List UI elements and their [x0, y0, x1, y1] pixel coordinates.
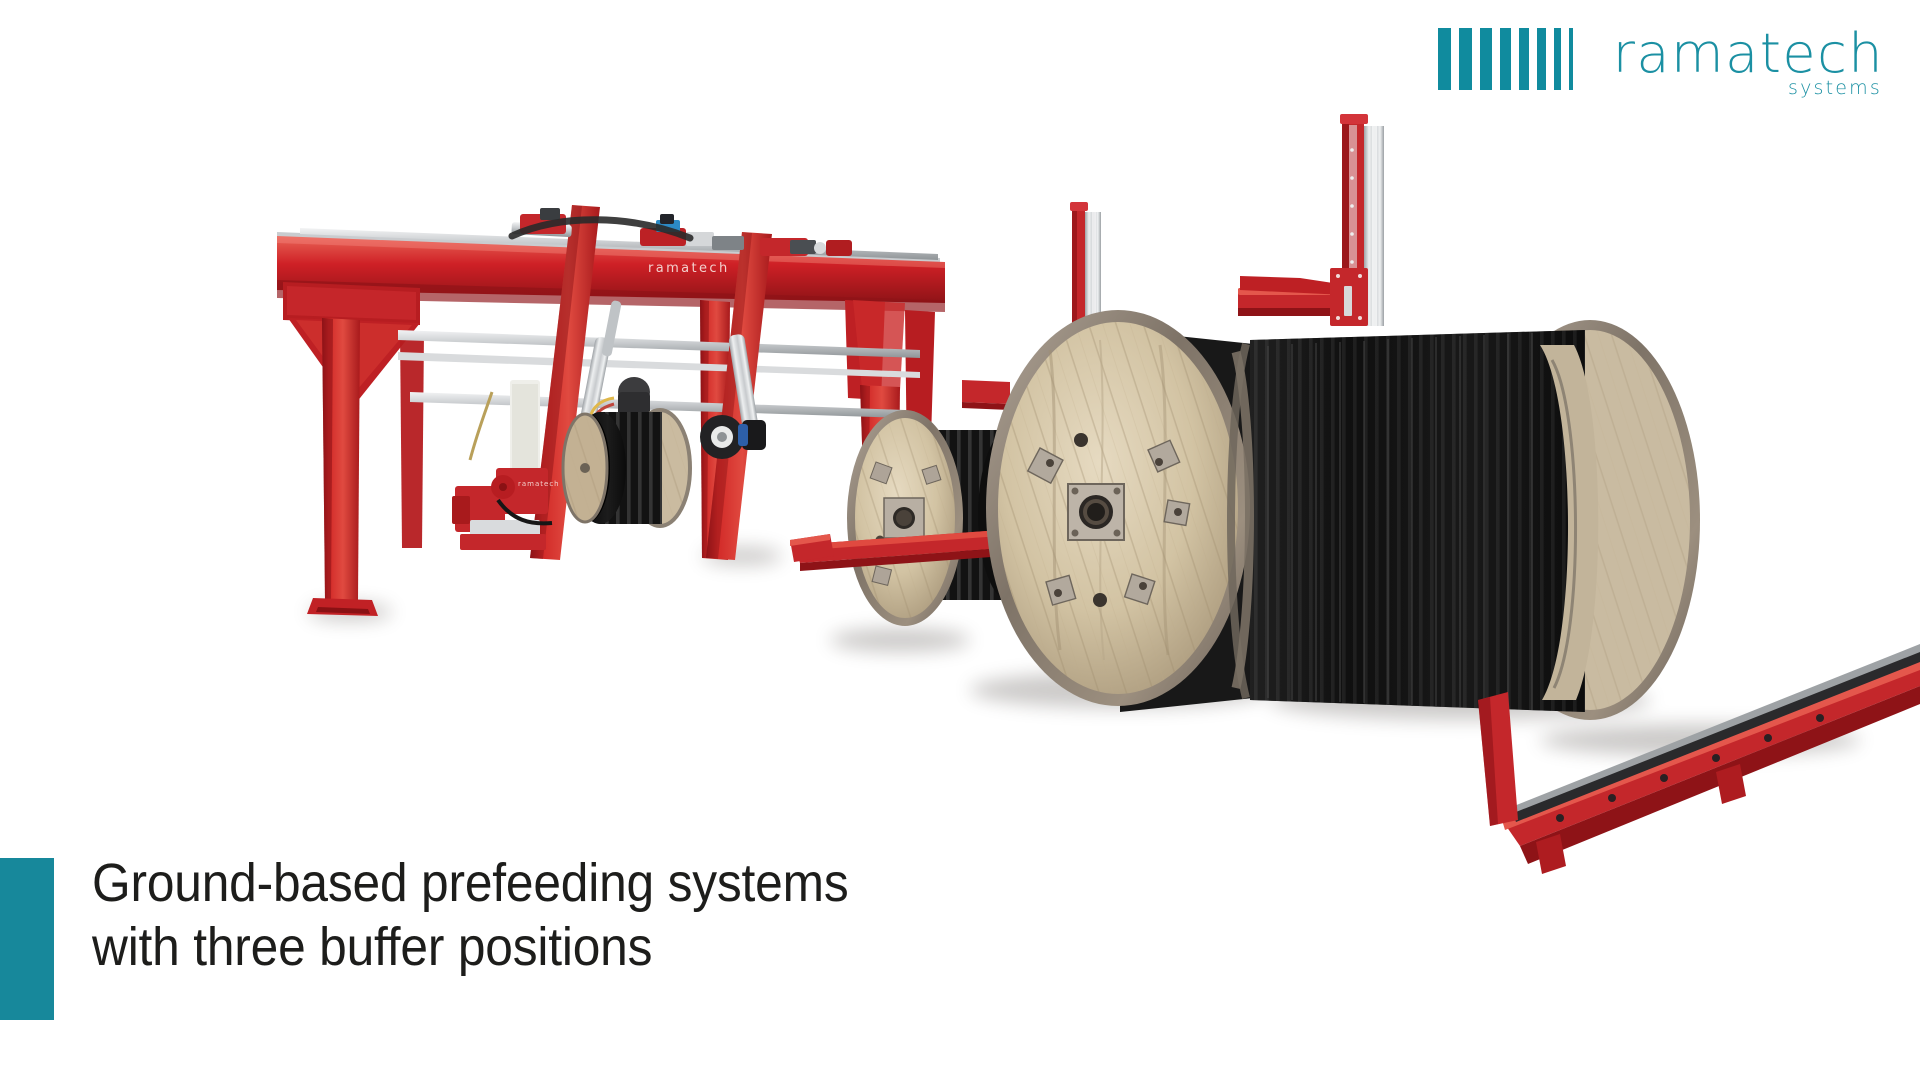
machine-wordmark: ramatech	[648, 261, 730, 276]
drive-wheel	[700, 415, 766, 459]
buffer-mast-right	[1238, 114, 1384, 326]
barcode-mark-icon	[1438, 28, 1573, 90]
brand-name: ramatech	[1613, 28, 1884, 79]
caption-line-1: Ground-based prefeeding systems	[92, 852, 1012, 916]
caption-line-2: with three buffer positions	[92, 916, 1012, 980]
cable-drum-medium	[1231, 320, 1700, 720]
caption-block: Ground-based prefeeding systems with thr…	[92, 852, 1092, 979]
slide-root: ramatech	[0, 0, 1920, 1080]
machine-sub-wordmark: ramatech	[518, 480, 560, 488]
brand-wordmark: ramatech systems	[1613, 28, 1884, 99]
caption-accent-bar	[0, 858, 54, 1020]
buffer-bracket-left	[962, 380, 1010, 410]
brand-logo: ramatech systems	[1438, 28, 1884, 99]
product-photo: ramatech	[0, 0, 1920, 900]
